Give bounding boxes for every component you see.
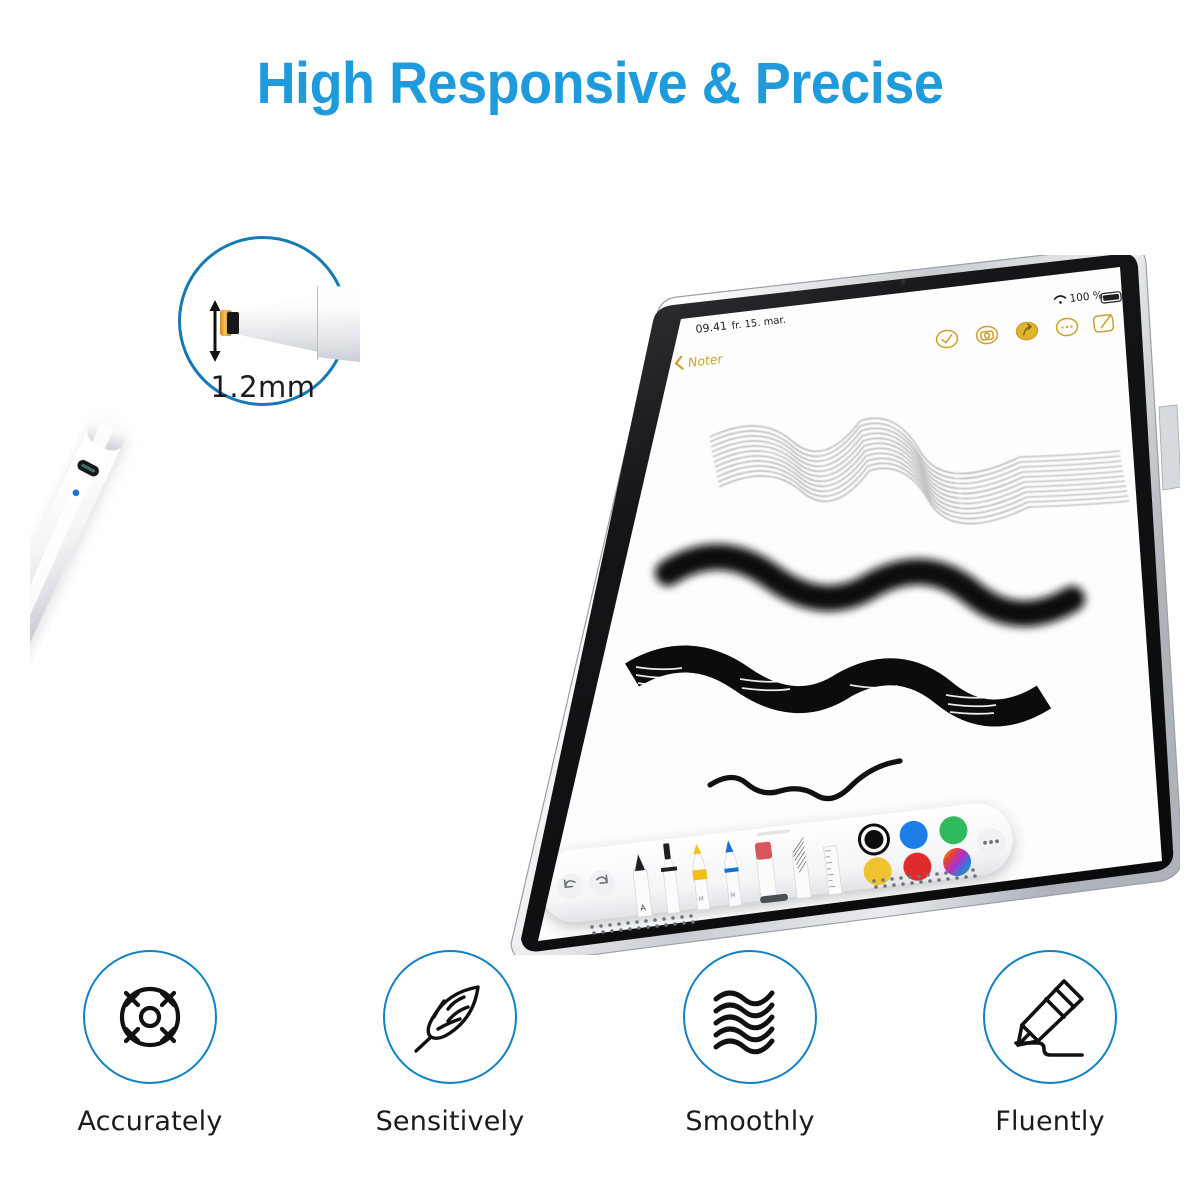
pen-barrel	[30, 410, 141, 688]
tip-size-callout: 1.2mm	[178, 236, 392, 414]
page-title: High Responsive & Precise	[42, 50, 1158, 117]
feature-label: Sensitively	[376, 1106, 525, 1137]
usb-c-port-icon	[75, 458, 100, 478]
feature-circle	[683, 950, 817, 1084]
front-camera-icon	[900, 279, 905, 284]
feature-smoothly: Smoothly	[600, 950, 900, 1160]
feature-circle	[983, 950, 1117, 1084]
led-indicator-icon	[71, 488, 80, 497]
svg-text:M: M	[698, 895, 704, 903]
feature-list: Accurately Sensitively	[0, 950, 1200, 1160]
target-crosshair-icon	[104, 971, 196, 1063]
feature-label: Accurately	[77, 1106, 222, 1137]
wavy-lines-icon	[704, 971, 796, 1063]
feature-circle	[383, 950, 517, 1084]
callout-label: 1.2mm	[178, 370, 348, 404]
feature-sensitively: Sensitively	[300, 950, 600, 1160]
product-feature-page: High Responsive & Precise 1.2mm	[0, 0, 1200, 1200]
pen-cap	[83, 410, 131, 455]
feature-label: Fluently	[995, 1106, 1105, 1137]
power-button-icon[interactable]	[1159, 405, 1180, 490]
feature-fluently: Fluently	[900, 950, 1200, 1160]
feature-circle	[83, 950, 217, 1084]
pencil-writing-icon	[1004, 971, 1096, 1063]
feather-quill-icon	[404, 971, 496, 1063]
feature-accurately: Accurately	[0, 950, 300, 1160]
tablet-device: 09.41 fr. 15. mar. 100 % Noter	[420, 255, 1180, 955]
feature-label: Smoothly	[685, 1106, 814, 1137]
svg-text:M: M	[730, 892, 736, 900]
double-arrow-vertical-icon	[208, 300, 222, 362]
